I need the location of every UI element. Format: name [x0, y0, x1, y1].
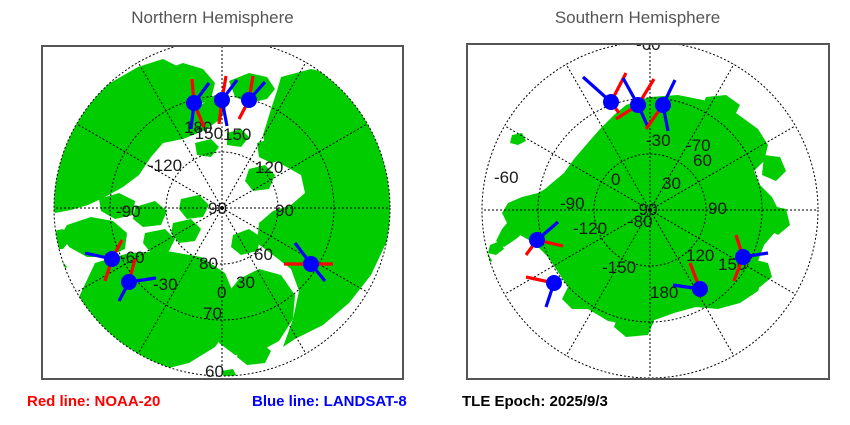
lon-label-m120: -120	[148, 156, 182, 175]
southern-panel-title: Southern Hemisphere	[425, 8, 850, 28]
lon-label-150: 150	[223, 125, 251, 144]
lon-label-m30: -30	[646, 131, 671, 150]
lat-label-80: 80	[199, 254, 218, 273]
northern-plot-svg: -150 -120 -90 -60 -30 0 30 60 90 120 150…	[43, 47, 402, 378]
sat-marker-1[interactable]	[583, 73, 626, 113]
lon-label-30: 30	[236, 273, 255, 292]
land-canada-island-5	[179, 195, 209, 219]
lon-label-m60: -60	[494, 168, 519, 187]
lon-label-0: 0	[611, 170, 620, 189]
southern-hemisphere-panel: Southern Hemisphere	[425, 0, 850, 425]
lat-label-m70: -70	[686, 136, 711, 155]
northern-panel-title: Northern Hemisphere	[0, 8, 425, 28]
northern-hemisphere-panel: Northern Hemisphere	[0, 0, 425, 425]
land-canada-island-3	[143, 229, 175, 253]
land-island-3	[510, 133, 526, 145]
lon-label-m120: -120	[573, 219, 607, 238]
northern-plot-frame[interactable]: -150 -120 -90 -60 -30 0 30 60 90 120 150…	[41, 45, 404, 380]
legend-tle-epoch: TLE Epoch: 2025/9/3	[462, 393, 608, 410]
southern-plot-svg: -60 -30 0 30 60 90 120 150 180 -150 -120…	[468, 45, 828, 378]
lon-label-60: 60	[254, 245, 273, 264]
legend-blue-line: Blue line: LANDSAT-8	[252, 393, 407, 410]
legend-row: Red line: NOAA-20 Blue line: LANDSAT-8 T…	[0, 393, 850, 423]
lon-label-m60-top: -60	[636, 45, 661, 54]
lat-label-60: 60	[205, 362, 224, 378]
lat-label-70: 70	[203, 304, 222, 323]
lon-label-m30: -30	[153, 275, 178, 294]
lon-label-90: 90	[275, 201, 294, 220]
lon-label-120: 120	[686, 246, 714, 265]
lon-label-120: 120	[255, 158, 283, 177]
lon-label-90: 90	[708, 199, 727, 218]
land-left-bit-2	[43, 257, 67, 277]
lon-label-m150: -150	[602, 258, 636, 277]
southern-plot-frame[interactable]: -60 -30 0 30 60 90 120 150 180 -150 -120…	[466, 43, 830, 380]
center-lat-label: 90	[208, 199, 227, 218]
lon-label-0: 0	[217, 283, 226, 302]
lon-label-m90: -90	[116, 202, 141, 221]
legend-red-line: Red line: NOAA-20	[27, 393, 160, 410]
land-coast-bump-2	[762, 155, 786, 181]
lat-label-m80: -80	[628, 212, 653, 231]
lon-label-30: 30	[662, 174, 681, 193]
lon-label-m90: -90	[560, 194, 585, 213]
lon-label-180: 180	[184, 118, 212, 137]
sat-marker-5[interactable]	[526, 275, 562, 307]
